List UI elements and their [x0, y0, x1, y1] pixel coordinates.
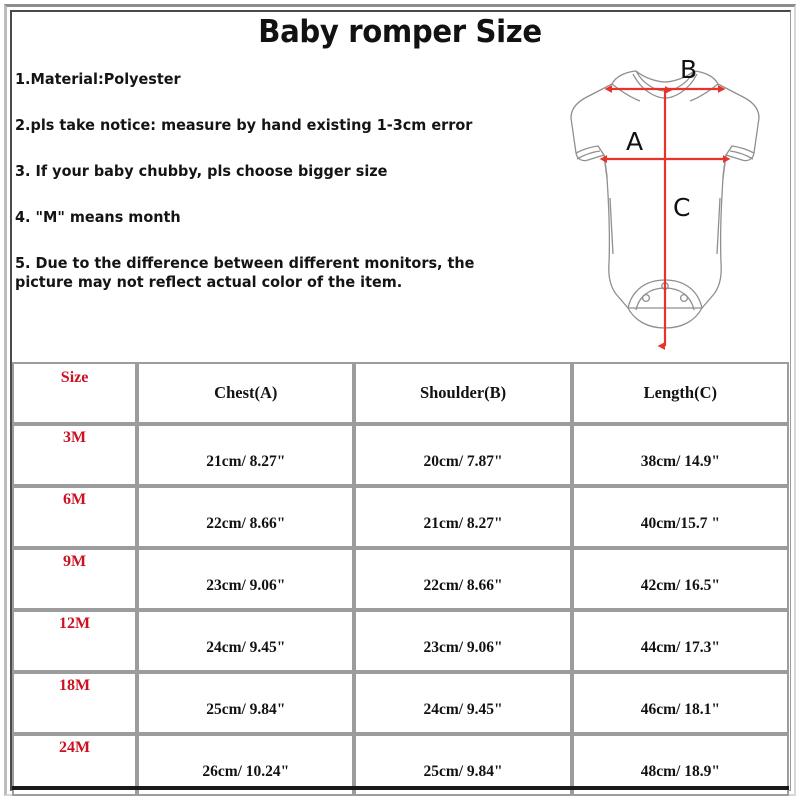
cell-length: 42cm/ 16.5"	[572, 548, 789, 610]
chest-value: 23cm/ 9.06"	[143, 577, 348, 595]
shoulder-value: 25cm/ 9.84"	[360, 763, 565, 781]
cell-chest: 25cm/ 9.84"	[137, 672, 354, 734]
size-value: 12M	[18, 615, 131, 633]
chest-value: 22cm/ 8.66"	[143, 515, 348, 533]
cell-shoulder: 22cm/ 8.66"	[354, 548, 571, 610]
length-value: 40cm/15.7 "	[578, 515, 783, 533]
length-value: 48cm/ 18.9"	[578, 763, 783, 781]
header-cell-shoulder: Shoulder(B)	[354, 362, 571, 424]
size-value: 9M	[18, 553, 131, 571]
size-value: 3M	[18, 429, 131, 447]
cell-length: 44cm/ 17.3"	[572, 610, 789, 672]
header-label-size: Size	[18, 369, 131, 387]
diagram-label-a: A	[626, 127, 643, 156]
header-cell-length: Length(C)	[572, 362, 789, 424]
chest-value: 25cm/ 9.84"	[143, 701, 348, 719]
table-row: 12M 24cm/ 9.45" 23cm/ 9.06" 44cm/ 17.3"	[12, 610, 789, 672]
chest-value: 26cm/ 10.24"	[143, 763, 348, 781]
cell-size: 12M	[12, 610, 137, 672]
header-label-chest: Chest(A)	[214, 383, 277, 402]
shoulder-value: 22cm/ 8.66"	[360, 577, 565, 595]
cell-chest: 24cm/ 9.45"	[137, 610, 354, 672]
measurement-arrows	[607, 89, 723, 346]
length-value: 44cm/ 17.3"	[578, 639, 783, 657]
cell-chest: 22cm/ 8.66"	[137, 486, 354, 548]
size-chart-page: Baby romper Size 1.Material:Polyester 2.…	[0, 0, 800, 800]
diagram-label-b: B	[680, 58, 697, 84]
cell-chest: 23cm/ 9.06"	[137, 548, 354, 610]
note-item: 3. If your baby chubby, pls choose bigge…	[15, 162, 499, 181]
size-value: 6M	[18, 491, 131, 509]
romper-diagram: B A C	[540, 58, 790, 358]
length-value: 46cm/ 18.1"	[578, 701, 783, 719]
note-item: 1.Material:Polyester	[15, 70, 499, 89]
cell-size: 3M	[12, 424, 137, 486]
header-label-length: Length(C)	[644, 383, 717, 402]
shoulder-value: 23cm/ 9.06"	[360, 639, 565, 657]
shoulder-value: 24cm/ 9.45"	[360, 701, 565, 719]
chest-value: 24cm/ 9.45"	[143, 639, 348, 657]
table-row: 6M 22cm/ 8.66" 21cm/ 8.27" 40cm/15.7 "	[12, 486, 789, 548]
size-value: 18M	[18, 677, 131, 695]
cell-shoulder: 24cm/ 9.45"	[354, 672, 571, 734]
cell-shoulder: 23cm/ 9.06"	[354, 610, 571, 672]
diagram-label-c: C	[673, 193, 690, 222]
shoulder-value: 20cm/ 7.87"	[360, 453, 565, 471]
size-table: Size Chest(A) Shoulder(B) Length(C) 3M 2…	[12, 362, 789, 796]
shoulder-value: 21cm/ 8.27"	[360, 515, 565, 533]
table-row: 9M 23cm/ 9.06" 22cm/ 8.66" 42cm/ 16.5"	[12, 548, 789, 610]
length-value: 42cm/ 16.5"	[578, 577, 783, 595]
length-value: 38cm/ 14.9"	[578, 453, 783, 471]
cell-shoulder: 21cm/ 8.27"	[354, 486, 571, 548]
cell-size: 6M	[12, 486, 137, 548]
page-title: Baby romper Size	[24, 14, 776, 50]
table-bottom-rule	[12, 786, 789, 790]
cell-chest: 21cm/ 8.27"	[137, 424, 354, 486]
cell-size: 9M	[12, 548, 137, 610]
header-cell-chest: Chest(A)	[137, 362, 354, 424]
cell-length: 38cm/ 14.9"	[572, 424, 789, 486]
cell-length: 46cm/ 18.1"	[572, 672, 789, 734]
size-value: 24M	[18, 739, 131, 757]
table-row: 18M 25cm/ 9.84" 24cm/ 9.45" 46cm/ 18.1"	[12, 672, 789, 734]
cell-size: 18M	[12, 672, 137, 734]
table-header-row: Size Chest(A) Shoulder(B) Length(C)	[12, 362, 789, 424]
header-label-shoulder: Shoulder(B)	[420, 383, 506, 402]
note-item: 2.pls take notice: measure by hand exist…	[15, 116, 499, 135]
cell-length: 40cm/15.7 "	[572, 486, 789, 548]
table-row: 3M 21cm/ 8.27" 20cm/ 7.87" 38cm/ 14.9"	[12, 424, 789, 486]
chest-value: 21cm/ 8.27"	[143, 453, 348, 471]
notes-list: 1.Material:Polyester 2.pls take notice: …	[15, 70, 535, 292]
note-item: 4. "M" means month	[15, 208, 499, 227]
cell-shoulder: 20cm/ 7.87"	[354, 424, 571, 486]
note-item: 5. Due to the difference between differe…	[15, 254, 499, 292]
header-cell-size: Size	[12, 362, 137, 424]
